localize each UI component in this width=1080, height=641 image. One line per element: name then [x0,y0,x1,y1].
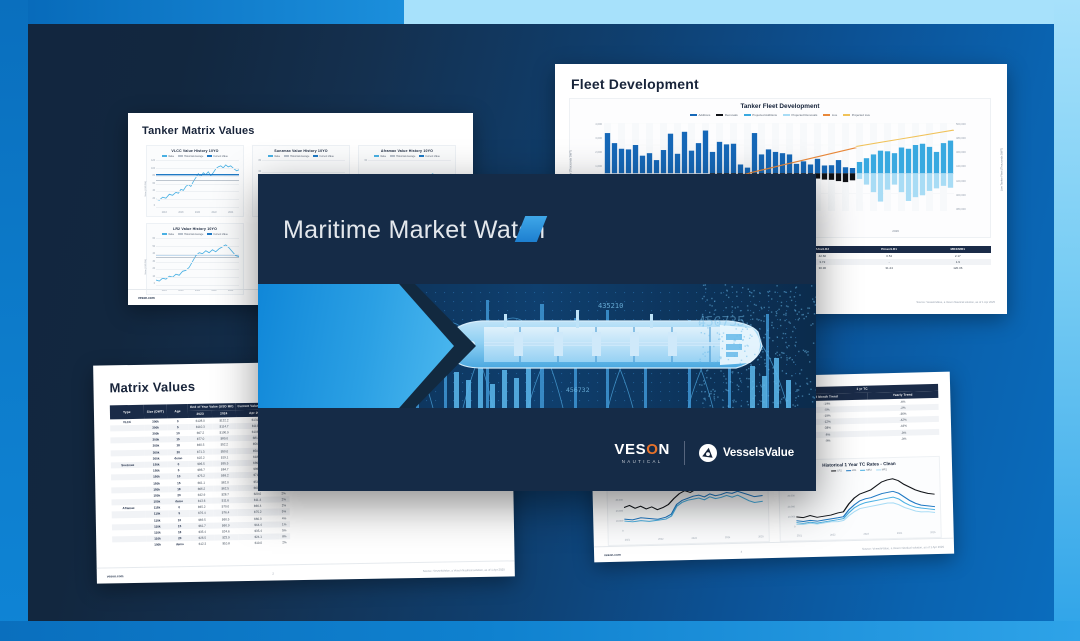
hero-title: Maritime Market Watch [283,216,545,245]
table-cell-trend: -3% [868,435,939,443]
table-cell-cur: $10.0 [238,540,279,547]
page-title-fleet-development: Fleet Development [571,76,699,92]
legend-item: Historical Average [178,233,203,236]
sheet-source-note: Source: VesselsValue, a Veson Nautical s… [862,544,944,550]
veson-tagline: NAUTICAL [614,459,670,464]
mini-chart-yticks: 6050403020100 [148,238,155,285]
chart-title: Tanker Fleet Development [570,103,990,110]
legend-item: Projected Removals [783,113,817,117]
hero-artwork: 2575 435210 456735 456732 [258,284,816,408]
legend-item: Projected Live [843,113,870,117]
col-header: MR2/MR1 [925,246,991,253]
legend-item: MR1 [876,468,887,471]
page-number: 4 [741,549,743,553]
legend-item: Live [823,113,837,117]
mini-chart-title: VLCC Value History 10YO [147,149,243,153]
mini-chart-lr2: LR2 Value History 10YO Value Historical … [146,223,244,295]
hero-cover-card[interactable]: Maritime Market Watch [258,174,816,491]
page-number: 2 [272,571,274,575]
legend-item: Projected Additions [744,113,777,117]
brand-logo-lockup: VESON NAUTICAL VesselsValue [614,441,794,465]
legend-item: Value [162,155,174,158]
table-cell-v2023: $12.3 [191,541,215,548]
legend-item: Removals [716,113,737,117]
chart-ylabel-right: Live Tanker Fleet (Thousands DWT) [1001,148,1004,191]
mini-chart-title: LR2 Value History 10YO [147,227,243,231]
col-header: Age [167,404,189,418]
footer-brand: veson.com [604,552,621,556]
footer-brand: veson.com [138,296,155,300]
mini-chart-legend: Value Historical Average Current Value [147,233,243,236]
legend-item: Historical Average [284,155,309,158]
legend-item: LR2 [831,469,842,472]
legend-item: Current Value [313,155,334,158]
col-header: Pmax/LR1 [854,246,925,253]
vesselsvalue-mark-icon [699,444,717,462]
hero-header: Maritime Market Watch [258,174,816,284]
mini-chart-legend: Value Historical Average Current Value [359,155,455,158]
col-header: Size (DWT) [144,404,167,418]
chart-legend: Additions Removals Projected Additions P… [570,113,990,117]
legend-item: Current Value [207,233,228,236]
sheet-source-note: Source: VesselsValue, a Veson Nautical s… [916,301,995,304]
chart-xticks: 20212022202320242025 [625,535,764,541]
table-cell-trend: 2% [279,540,291,546]
legend-item: Current Value [207,155,228,158]
vesselsvalue-wordmark: VesselsValue [723,447,794,459]
col-header: Type [110,405,144,419]
mini-chart-vlcc: VLCC Value History 10YO Value Historical… [146,145,244,217]
chart-xticks: 20212022202320242025 [797,531,936,537]
legend-item: Historical Average [390,155,415,158]
sheet-source-note: Source: VesselsValue, a Veson Nautical s… [423,567,505,572]
table-orderbook[interactable]: Afra/LR2 Pmax/LR1 MR2/MR1 42.600.542.17 … [791,246,991,271]
legend-item: Current Value [419,155,440,158]
mini-chart-ylabel: Value (USD Mil) [145,259,147,275]
legend-item: LR1 [846,469,857,472]
mini-chart-legend: Value Historical Average Current Value [253,155,349,158]
vesselsvalue-logo: VesselsValue [699,444,794,462]
table-cell-type [112,542,146,549]
table-cell-size: 100k [146,542,169,549]
logo-divider [684,441,685,465]
svg-text:456732: 456732 [566,386,590,394]
legend-item: MR2 [860,469,871,472]
legend-item: Value [268,155,280,158]
background-band-left [0,0,28,641]
mini-chart-ylabel: Value (USD Mil) [145,181,147,197]
mini-chart-legend: Value Historical Average Current Value [147,155,243,158]
background-band-top-right [404,0,1080,24]
mini-chart-title: Aframax Value History 10YO [359,149,455,153]
legend-item: Value [162,233,174,236]
mini-chart-plot [156,238,239,285]
background-band-top-left [0,0,404,24]
background-band-right [1054,0,1080,641]
footer-brand: veson.com [107,574,124,578]
table-row: 30.3031.24120.36 [791,265,991,271]
chart-yticks-right: 500,000480,000460,000440,000 420,000400,… [956,123,983,211]
svg-text:456735: 456735 [698,315,745,330]
svg-text:435210: 435210 [598,302,623,310]
background-band-bottom [0,621,1080,641]
page-title-tanker-matrix: Tanker Matrix Values [142,125,255,137]
table-cell-v2024: $10.8 [214,540,238,547]
table-cell-age: demo [169,541,190,548]
veson-wordmark: VESON [614,442,670,457]
veson-nautical-logo: VESON NAUTICAL [614,442,670,464]
mini-chart-xticks: 20162018202020222024 [156,212,239,214]
mini-chart-title: Suezmax Value History 10YO [253,149,349,153]
legend-item: Historical Average [178,155,203,158]
chart-plot-area [795,471,935,528]
mini-chart-plot [156,160,239,207]
hero-footer: VESON NAUTICAL VesselsValue [258,408,816,491]
screenshot-root: Tanker Matrix Values VLCC Value History … [0,0,1080,641]
mini-chart-yticks: 120100806040200 [148,160,155,207]
page-title-matrix-values: Matrix Values [109,379,195,395]
legend-item: Additions [690,113,710,117]
legend-item: Value [374,155,386,158]
